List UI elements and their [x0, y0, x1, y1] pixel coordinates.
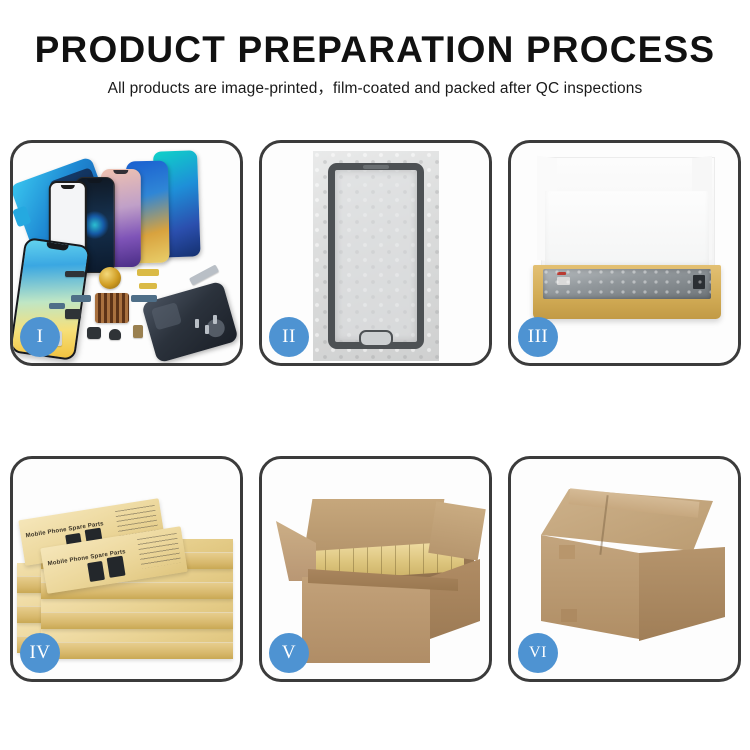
step-badge-5: V — [269, 633, 309, 673]
flex-cable-icon — [137, 269, 159, 276]
kraft-box-tray-icon — [533, 265, 721, 319]
infographic-page: PRODUCT PREPARATION PROCESS All products… — [0, 0, 750, 750]
process-grid: I II — [10, 140, 741, 682]
header: PRODUCT PREPARATION PROCESS All products… — [0, 28, 750, 99]
carton-front-icon — [302, 577, 430, 663]
process-step-2: II — [259, 140, 492, 366]
step-badge-3: III — [518, 317, 558, 357]
phone-back-housing-icon — [141, 281, 239, 363]
spare-part-icon — [133, 325, 143, 338]
carton-flap-right-icon — [428, 501, 486, 560]
kraft-box-icon — [41, 629, 233, 659]
spare-part-icon — [109, 329, 121, 340]
flex-cable-icon — [49, 303, 65, 309]
screw-icon — [205, 325, 209, 334]
step-badge-2: II — [269, 317, 309, 357]
spare-part-icon — [65, 309, 81, 319]
foam-padding-icon — [545, 191, 709, 267]
process-step-3: III — [508, 140, 741, 366]
process-step-6: VI — [508, 456, 741, 682]
spare-part-icon — [65, 271, 85, 277]
chip-grid-icon — [95, 293, 129, 323]
process-step-1: I — [10, 140, 243, 366]
phone-glass-icon — [328, 163, 424, 349]
step-badge-4: IV — [20, 633, 60, 673]
screw-icon — [195, 319, 199, 328]
copper-coil-icon — [99, 267, 121, 289]
page-subtitle: All products are image-printed，film-coat… — [0, 79, 750, 99]
flex-cable-icon — [131, 295, 157, 302]
screw-icon — [213, 315, 217, 324]
page-title: PRODUCT PREPARATION PROCESS — [0, 28, 750, 72]
kraft-box-icon — [41, 599, 233, 629]
carton-side-icon — [639, 547, 725, 641]
wrapped-screen-icon — [543, 269, 711, 299]
process-step-4: Mobile Phone Spare Parts Mobile Phone Sp… — [10, 456, 243, 682]
process-step-5: V — [259, 456, 492, 682]
flex-cable-icon — [71, 295, 91, 302]
step-badge-1: I — [20, 317, 60, 357]
step-badge-6: VI — [518, 633, 558, 673]
flex-cable-icon — [139, 283, 157, 289]
carton-front-icon — [541, 529, 639, 639]
carton-tab-icon — [559, 545, 575, 559]
spare-part-icon — [87, 327, 101, 339]
bubble-wrap-background — [313, 151, 439, 361]
carton-tab-icon — [561, 609, 577, 622]
